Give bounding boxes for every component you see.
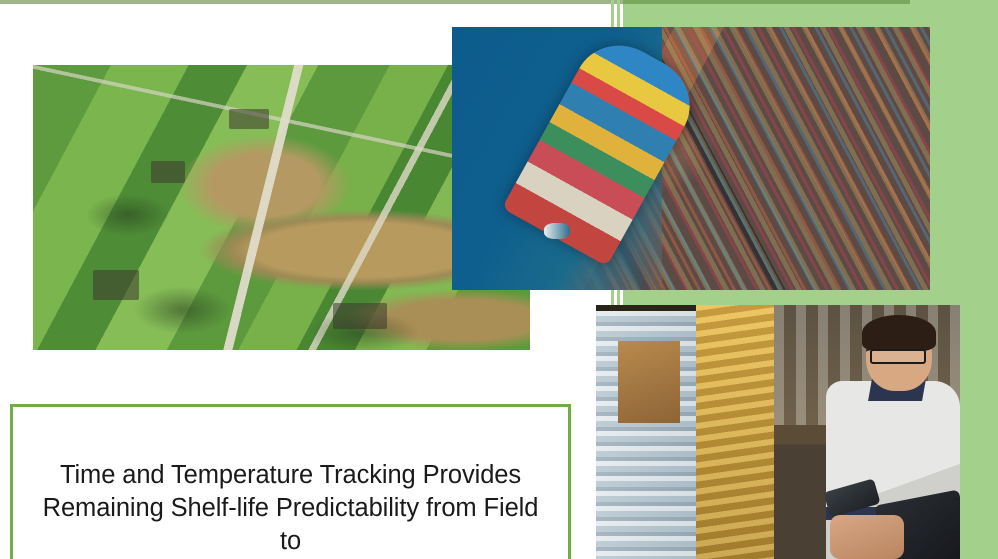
- tug-boat: [544, 223, 570, 239]
- caption-line-1: Time and Temperature Tracking Provides: [29, 459, 552, 492]
- warehouse-worker-photo: [596, 305, 960, 559]
- worker-figure: [792, 319, 960, 559]
- farm-village-cluster: [333, 303, 387, 329]
- slide-canvas: Time and Temperature Tracking Provides R…: [0, 0, 998, 559]
- worker-glasses: [870, 349, 926, 364]
- top-accent-rule: [623, 0, 910, 4]
- farm-village-cluster: [151, 161, 185, 183]
- caption-text-box: Time and Temperature Tracking Provides R…: [10, 404, 571, 559]
- gold-wrapped-pallet: [696, 305, 774, 559]
- worker-hair: [862, 315, 936, 351]
- container-port-aerial-photo: [452, 27, 930, 290]
- farm-village-cluster: [93, 270, 139, 300]
- caption-line-2: Remaining Shelf-life Predictability from…: [29, 492, 552, 558]
- farm-village-cluster: [229, 109, 269, 129]
- worker-forearm: [830, 515, 904, 559]
- cardboard-box: [618, 341, 680, 423]
